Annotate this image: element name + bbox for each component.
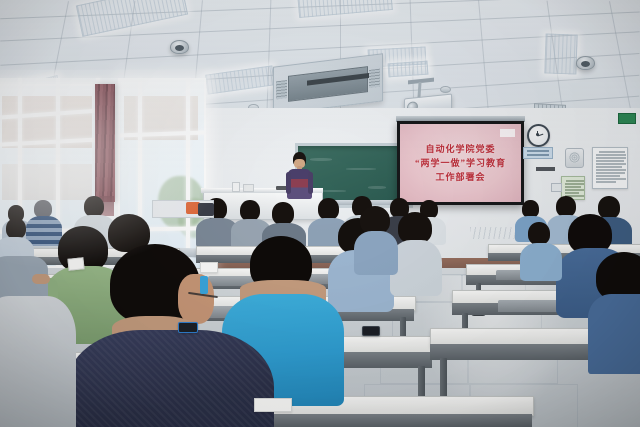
smartphone[interactable] — [362, 326, 380, 336]
attendee-foreground-face — [178, 274, 214, 324]
slide-line-2: “两学一做”学习教育 — [415, 159, 506, 168]
ac-vent — [288, 66, 368, 102]
slide-highlight-block — [500, 129, 515, 137]
attendee-foreground-torso — [66, 330, 274, 427]
light-panel — [388, 61, 429, 78]
cup-on-lectern — [232, 182, 240, 192]
ceiling-air-conditioner — [273, 53, 383, 115]
dome-camera — [576, 56, 595, 70]
slide-content: 自动化学院党委 “两学一做”学习教育 工作部署会 — [400, 124, 521, 202]
dome-camera — [170, 40, 189, 54]
light-panel — [544, 33, 577, 74]
paper-sheet — [254, 398, 292, 412]
classroom-photo: 自动化学院党委 “两学一做”学习教育 工作部署会 — [0, 0, 640, 427]
ac-slit — [307, 72, 377, 86]
smartphone-screen — [363, 327, 379, 335]
paper-sheet — [200, 262, 218, 273]
ac-louver-right — [369, 69, 380, 88]
smoke-detector — [440, 86, 451, 93]
curtain — [95, 84, 115, 202]
wall-clock — [527, 124, 550, 147]
light-panel — [205, 65, 275, 94]
paper-on-lectern — [243, 184, 254, 192]
smartphone-screen — [179, 323, 197, 332]
light-panel — [297, 0, 393, 18]
smartphone[interactable] — [178, 322, 198, 333]
pen — [200, 276, 208, 294]
exit-sign — [618, 113, 636, 124]
light-panel — [76, 0, 188, 37]
paper-sheet — [67, 257, 84, 271]
projector-arm — [417, 82, 421, 98]
presenter-arm-left — [286, 172, 291, 194]
notice-poster-white — [592, 147, 628, 189]
slide-line-3: 工作部署会 — [435, 173, 485, 182]
projection-screen: 自动化学院党委 “两学一做”学习教育 工作部署会 — [397, 121, 524, 205]
wall-speaker — [565, 148, 584, 168]
black-bag — [198, 203, 214, 216]
slide-line-1: 自动化学院党委 — [425, 145, 495, 154]
light-switch[interactable] — [551, 183, 562, 192]
clock-center — [536, 133, 539, 136]
wall-sign-blue — [523, 147, 553, 159]
wall-plaque — [536, 167, 555, 171]
ac-louver-left — [276, 80, 287, 99]
presenter-arm-right — [308, 172, 313, 194]
